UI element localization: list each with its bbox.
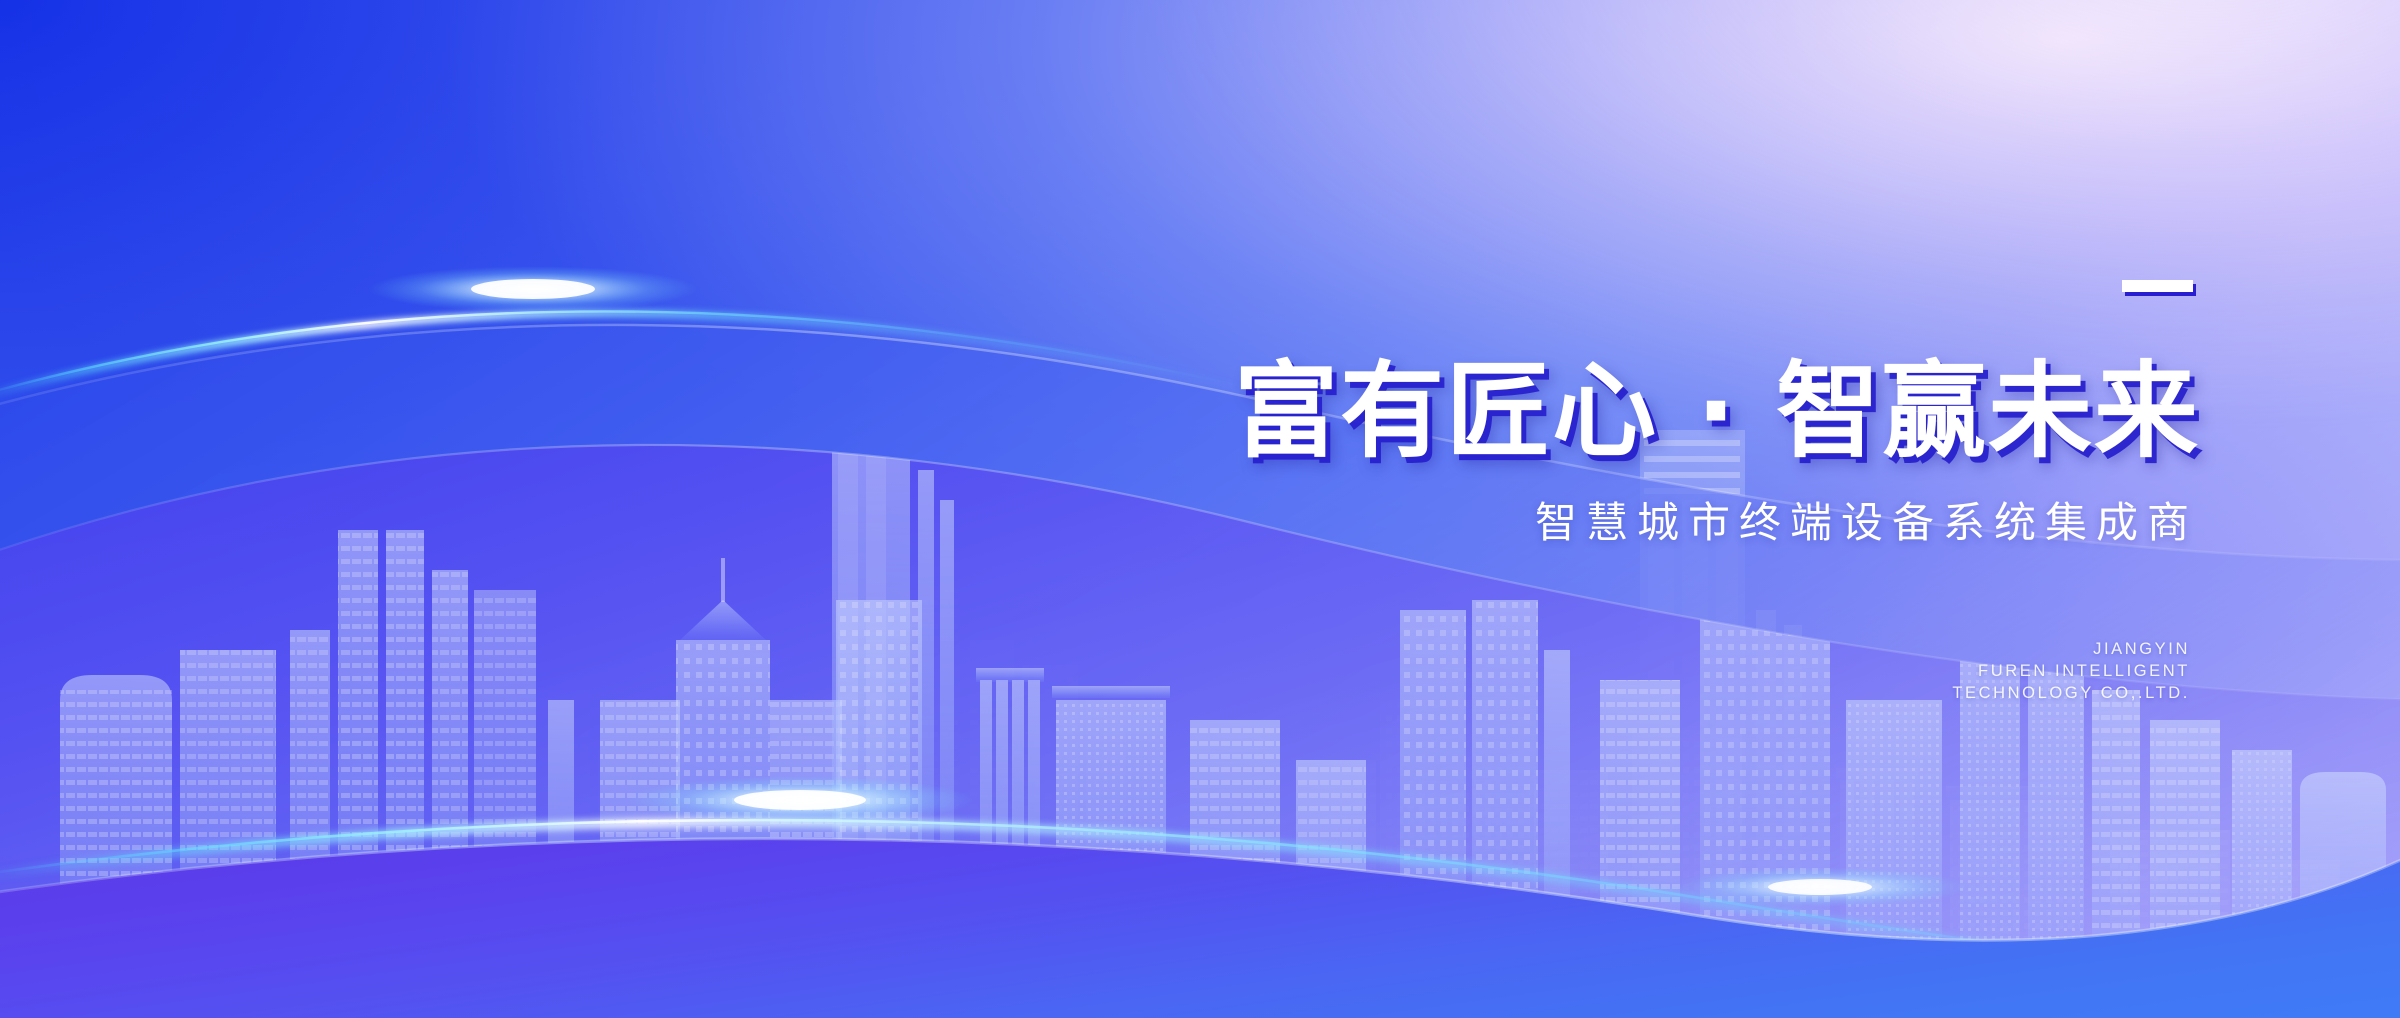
promotional-banner: 富有匠心 · 智赢未来 智慧城市终端设备系统集成商 JIANGYIN FUREN…	[0, 0, 2400, 1018]
company-line-2: FUREN INTELLIGENT	[1952, 660, 2190, 682]
company-line-3: TECHNOLOGY CO,.LTD.	[1952, 682, 2190, 704]
page-title: 富有匠心 · 智赢未来	[1234, 356, 2200, 466]
company-line-1: JIANGYIN	[1952, 638, 2190, 660]
company-name-english: JIANGYIN FUREN INTELLIGENT TECHNOLOGY CO…	[1952, 638, 2190, 704]
horizontal-dash-icon	[2122, 280, 2193, 292]
page-subtitle: 智慧城市终端设备系统集成商	[1526, 502, 2198, 544]
